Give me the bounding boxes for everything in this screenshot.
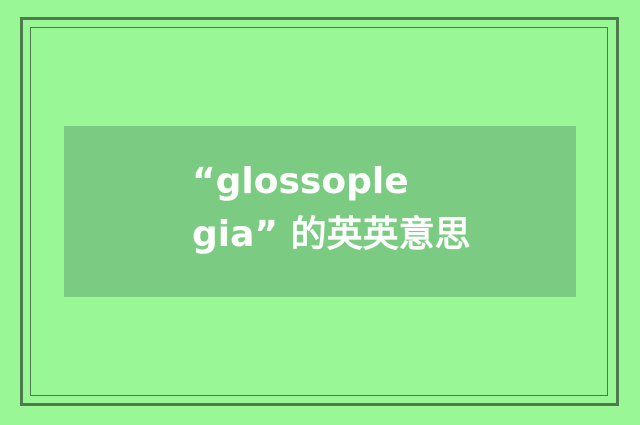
title-line-2: gia” 的英英意思 xyxy=(192,208,471,261)
page-canvas: “glossople gia” 的英英意思 xyxy=(0,0,640,425)
title-banner: “glossople gia” 的英英意思 xyxy=(64,126,576,297)
title-line-1: “glossople xyxy=(192,155,409,208)
